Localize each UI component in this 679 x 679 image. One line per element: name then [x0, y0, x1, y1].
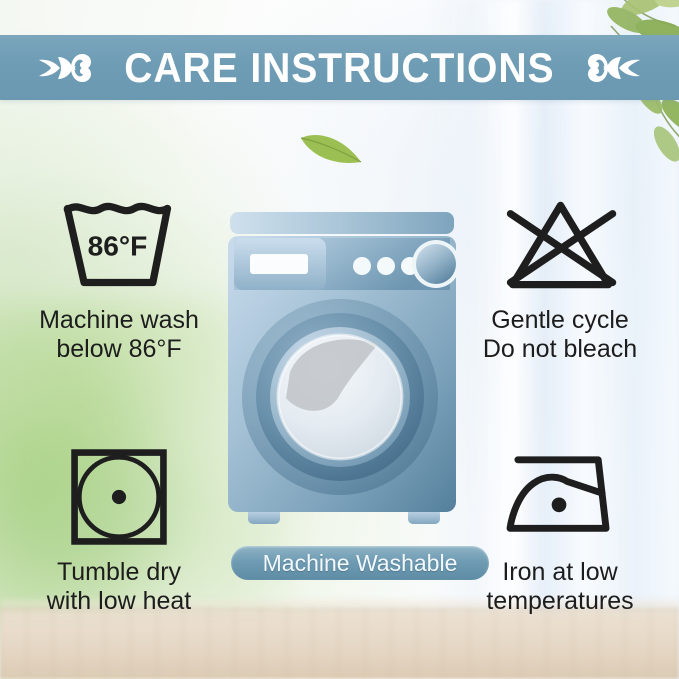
- care-symbol-label-tumble-dry: Tumble dry with low heat: [14, 558, 224, 615]
- falling-leaf-icon: [298, 126, 364, 168]
- care-symbol-machine-wash: 86°F Machine wash below 86°F: [14, 190, 224, 363]
- care-symbol-gentle-cycle-no-bleach: Gentle cycle Do not bleach: [455, 190, 665, 363]
- status-badge-label: Machine Washable: [263, 552, 458, 575]
- header-banner: CARE INSTRUCTIONS: [0, 35, 679, 100]
- wash-temperature-value: 86°F: [87, 230, 147, 261]
- indicator-light-2: [377, 257, 395, 275]
- washing-machine-illustration: [228, 212, 456, 528]
- status-badge: Machine Washable: [231, 546, 489, 580]
- fleur-de-lis-icon-right: [585, 46, 641, 90]
- iron-icon: [455, 442, 665, 552]
- indicator-light-1: [353, 257, 371, 275]
- care-symbol-label-machine-wash: Machine wash below 86°F: [14, 306, 224, 363]
- care-instructions-infographic: CARE INSTRUCTIONS 86°F Machine wash belo…: [0, 0, 679, 679]
- care-symbol-label-gentle-cycle: Gentle cycle Do not bleach: [455, 306, 665, 363]
- care-symbol-iron: Iron at low temperatures: [455, 442, 665, 615]
- wood-grain-texture: [0, 607, 679, 679]
- care-symbol-tumble-dry: Tumble dry with low heat: [14, 442, 224, 615]
- triangle-crossed-out-icon: [455, 190, 665, 300]
- detergent-drawer-handle: [250, 254, 308, 274]
- page-title: CARE INSTRUCTIONS: [111, 47, 567, 89]
- program-knob: [416, 244, 456, 284]
- tumble-dry-square-icon: [14, 442, 224, 552]
- fleur-de-lis-icon-left: [38, 46, 94, 90]
- machine-top-lid: [230, 212, 454, 234]
- wash-tub-icon: 86°F: [14, 190, 224, 300]
